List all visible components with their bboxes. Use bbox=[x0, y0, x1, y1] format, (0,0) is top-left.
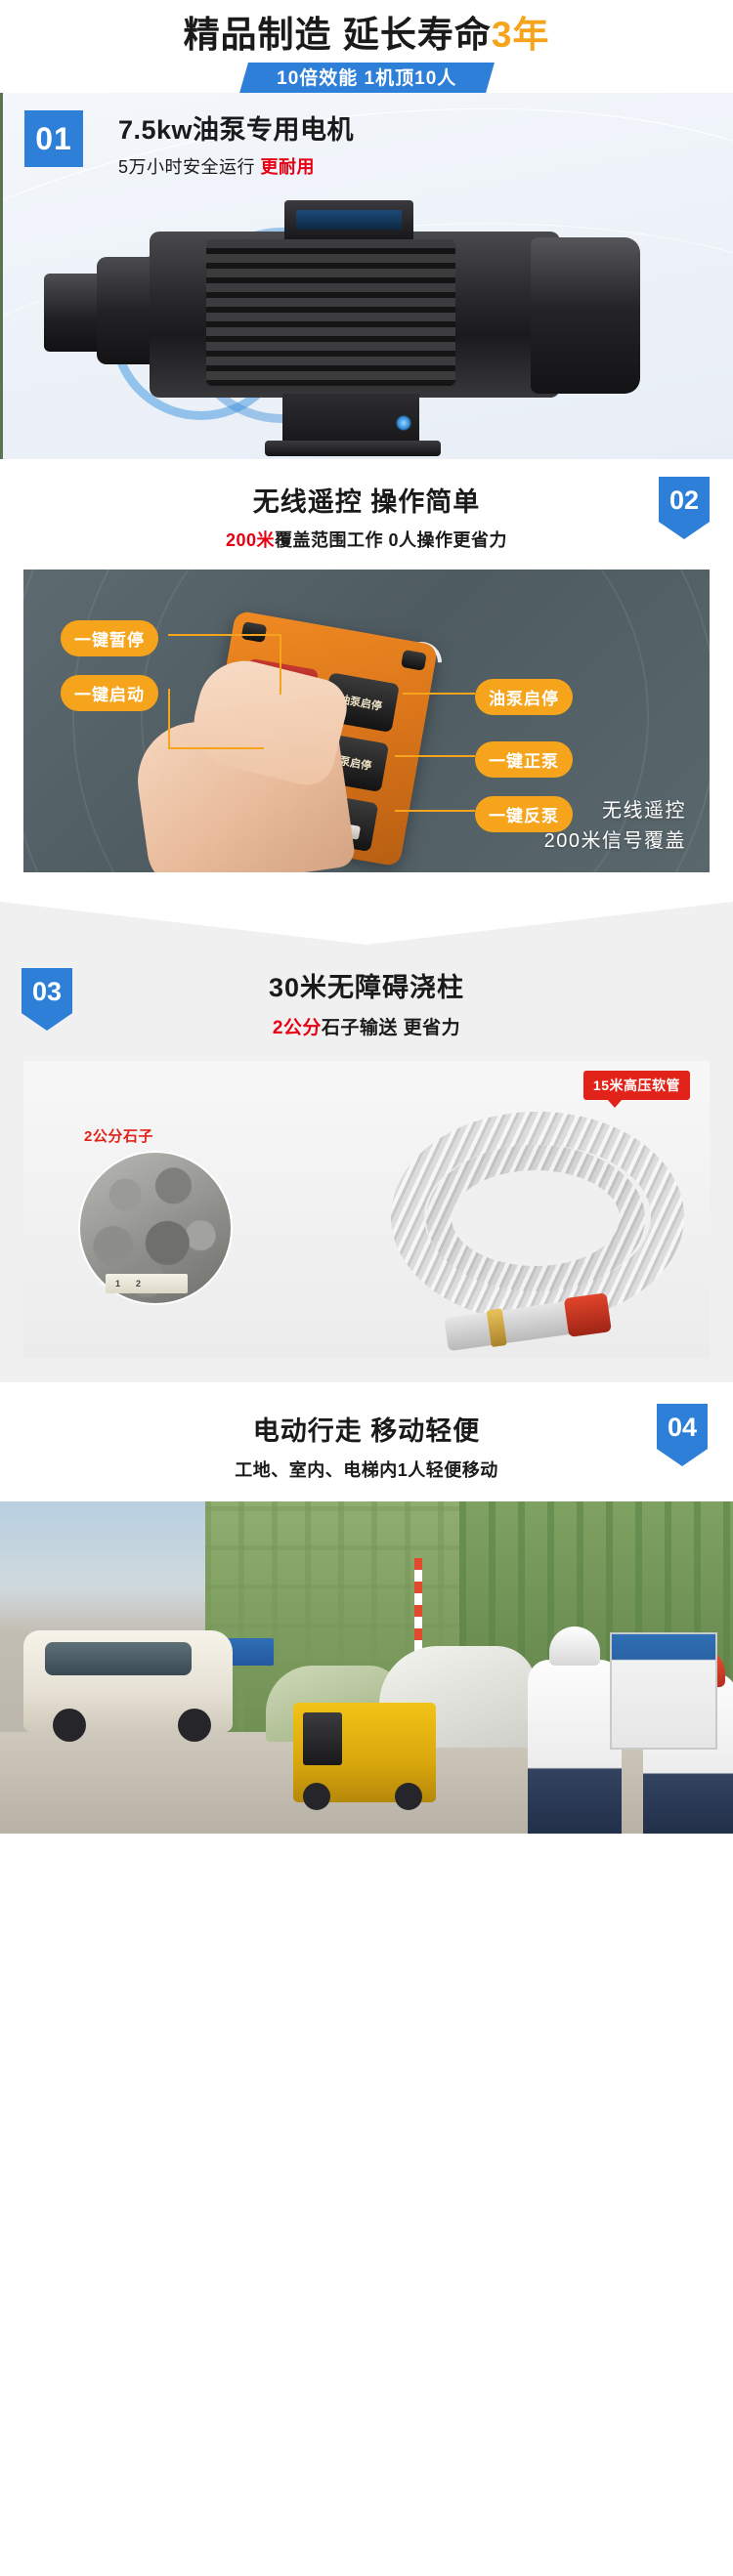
callout-oil-pump-toggle: 油泵启停 bbox=[475, 679, 573, 715]
section-01-subtitle-normal: 5万小时安全运行 bbox=[118, 157, 261, 177]
screw-icon-1 bbox=[241, 621, 268, 643]
section-04-mobility: 电动行走 移动轻便 工地、室内、电梯内1人轻便移动 04 bbox=[0, 1382, 733, 1834]
callout-start: 一键启动 bbox=[61, 675, 158, 711]
remote-overlay-line2: 200米信号覆盖 bbox=[544, 826, 686, 857]
section-02-subtitle-normal: 覆盖范围工作 0人操作更省力 bbox=[275, 530, 507, 550]
section-04-title: 电动行走 移动轻便 bbox=[0, 1410, 733, 1448]
led-glow-icon bbox=[396, 415, 411, 431]
section-number-label: 04 bbox=[668, 1413, 697, 1443]
motor-foot bbox=[265, 441, 441, 456]
section-03-subtitle-highlight: 2公分 bbox=[273, 1018, 322, 1038]
remote-overlay-text: 无线遥控 200米信号覆盖 bbox=[544, 796, 686, 857]
machine-wheel-left bbox=[303, 1783, 330, 1810]
callout-lead-oil bbox=[403, 693, 475, 695]
ruler-mark-2: 2 bbox=[136, 1279, 141, 1288]
hose-length-tag: 15米高压软管 bbox=[583, 1071, 690, 1100]
section-02-subtitle-highlight: 200米 bbox=[226, 530, 275, 550]
section-02-subtitle: 200米覆盖范围工作 0人操作更省力 bbox=[0, 527, 733, 552]
hero-title-accent: 3年 bbox=[492, 15, 550, 55]
hero-title-main: 精品制造 延长寿命 bbox=[184, 15, 492, 55]
section-04-subtitle-highlight: 1人轻便移动 bbox=[398, 1460, 498, 1480]
worker-with-white-helmet bbox=[528, 1660, 622, 1834]
callout-leadv-start bbox=[168, 689, 170, 749]
van-wheel-front bbox=[53, 1709, 86, 1742]
section-number-label: 03 bbox=[32, 977, 62, 1007]
motor-illustration bbox=[3, 181, 733, 459]
remote-overlay-line1: 无线遥控 bbox=[544, 796, 686, 826]
callout-lead-forward bbox=[395, 755, 475, 757]
section-number-badge-01: 01 bbox=[24, 110, 83, 167]
callout-lead-reverse bbox=[395, 810, 475, 812]
callout-lead-pause bbox=[168, 634, 281, 636]
section-03-title: 30米无障碍浇柱 bbox=[0, 966, 733, 1004]
motor-junction-box bbox=[284, 200, 413, 239]
section-01-subtitle-highlight: 更耐用 bbox=[261, 157, 316, 177]
remote-control-photo: 停 油泵启停 动 正泵启停 备用 备用 一键暂停 一键启动 油泵启停 一键正泵 bbox=[23, 570, 710, 872]
ruler-mark-1: 1 bbox=[115, 1279, 120, 1288]
section-01-heading: 7.5kw油泵专用电机 5万小时安全运行 更耐用 bbox=[118, 108, 354, 179]
van-wheel-rear bbox=[178, 1709, 211, 1742]
section-03-heading: 03 30米无障碍浇柱 2公分石子输送 更省力 bbox=[0, 966, 733, 1039]
section-01-title: 7.5kw油泵专用电机 bbox=[118, 108, 354, 147]
section-04-heading: 电动行走 移动轻便 工地、室内、电梯内1人轻便移动 04 bbox=[0, 1410, 733, 1482]
section-04-subtitle: 工地、室内、电梯内1人轻便移动 bbox=[0, 1457, 733, 1482]
hero-header: 精品制造 延长寿命3年 10倍效能 1机顶10人 bbox=[0, 0, 733, 93]
callout-pause: 一键暂停 bbox=[61, 620, 158, 656]
section-02-heading: 无线遥控 操作简单 200米覆盖范围工作 0人操作更省力 02 bbox=[0, 481, 733, 552]
ruler-scale: 1 2 bbox=[106, 1274, 188, 1293]
stone-size-label: 2公分石子 bbox=[84, 1125, 153, 1146]
section-02-remote: 无线遥控 操作简单 200米覆盖范围工作 0人操作更省力 02 停 bbox=[0, 459, 733, 872]
page-title: 精品制造 延长寿命3年 bbox=[184, 16, 550, 55]
callout-forward-pump: 一键正泵 bbox=[475, 741, 573, 778]
hero-subtitle-banner: 10倍效能 1机顶10人 bbox=[238, 63, 495, 97]
callout-leadv-pause bbox=[280, 634, 281, 695]
section-03-subtitle: 2公分石子输送 更省力 bbox=[0, 1013, 733, 1039]
section-04-subtitle-prefix: 工地、室内、电梯内 bbox=[235, 1460, 398, 1480]
section-number-label: 02 bbox=[669, 486, 699, 516]
motor-end-cap-right bbox=[531, 237, 640, 394]
chevron-divider bbox=[0, 902, 733, 956]
product-detail-page: 精品制造 延长寿命3年 10倍效能 1机顶10人 01 7.5kw油泵专用电机 … bbox=[0, 0, 733, 1834]
section-01-subtitle: 5万小时安全运行 更耐用 bbox=[118, 153, 354, 179]
machine-wheel-right bbox=[395, 1783, 422, 1810]
section-number-label: 01 bbox=[35, 121, 72, 157]
motor-cooling-fins bbox=[206, 239, 455, 386]
screw-icon-2 bbox=[401, 650, 427, 671]
safety-notice-board bbox=[610, 1632, 717, 1750]
hose-photo: 15米高压软管 2公分石子 1 2 bbox=[23, 1061, 710, 1359]
callout-lead-start bbox=[168, 747, 264, 749]
hero-banner-label: 10倍效能 1机顶10人 bbox=[277, 67, 456, 91]
section-01-motor: 01 7.5kw油泵专用电机 5万小时安全运行 更耐用 bbox=[0, 93, 733, 459]
section-03-subtitle-normal: 石子输送 更省力 bbox=[322, 1018, 460, 1038]
hose-coil-inner bbox=[426, 1145, 645, 1291]
section-03-hose: 03 30米无障碍浇柱 2公分石子输送 更省力 15米高压软管 2公分石子 1 … bbox=[0, 956, 733, 1382]
construction-site-photo bbox=[0, 1501, 733, 1834]
section-02-title: 无线遥控 操作简单 bbox=[0, 481, 733, 519]
